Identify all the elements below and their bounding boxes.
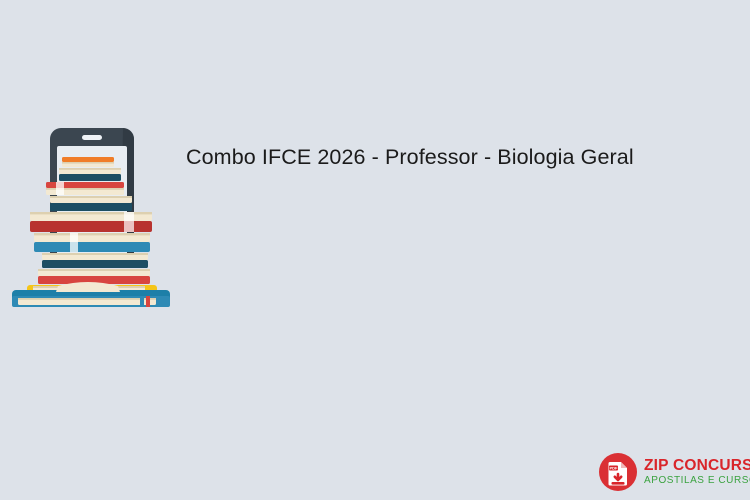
book-navy-7 [42,253,148,268]
page-title: Combo IFCE 2026 - Professor - Biologia G… [186,143,731,171]
book-teal-4 [50,196,132,211]
book-red-3 [46,182,124,195]
book-red-8 [38,269,150,284]
logo-text-group: ZIP CONCURSOS APOSTILAS E CURSOS [644,457,750,487]
book-navy-2 [59,168,121,181]
product-banner: Combo IFCE 2026 - Professor - Biologia G… [0,0,750,500]
book-orange-top [62,157,114,167]
svg-text:PDF: PDF [610,466,619,471]
book-darkred-5 [30,212,152,232]
pdf-download-icon: PDF [598,452,638,492]
book-stack-illustration [12,126,172,308]
brand-logo: PDF ZIP CONCURSOS APOSTILAS E CURSOS [598,450,744,494]
logo-subtitle: APOSTILAS E CURSOS [644,474,750,487]
book-blue-6 [34,233,150,252]
logo-title: ZIP CONCURSOS [644,457,750,474]
